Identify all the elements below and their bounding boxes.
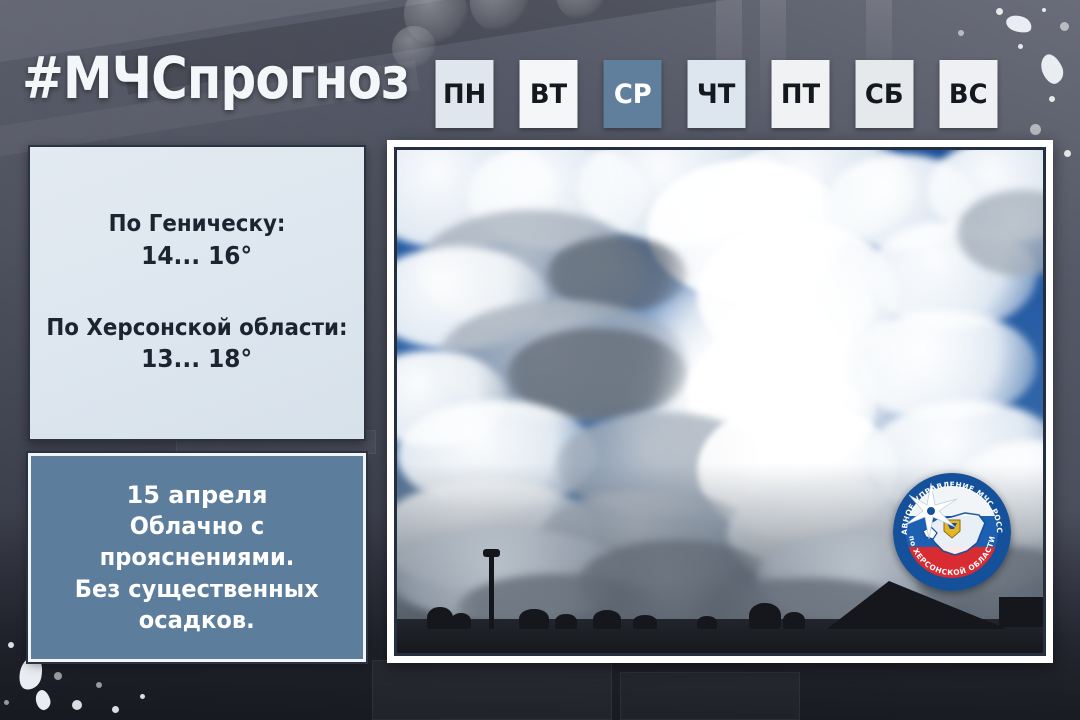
page-title: #МЧСпрогноз bbox=[22, 44, 409, 112]
day-tab-wed-active[interactable]: СР bbox=[604, 60, 662, 128]
building-silhouette bbox=[999, 597, 1043, 627]
water-droplet bbox=[1049, 96, 1055, 102]
tree-silhouette bbox=[783, 612, 805, 629]
water-droplet bbox=[140, 694, 145, 699]
water-droplet bbox=[996, 8, 1003, 15]
tree-silhouette bbox=[519, 609, 549, 629]
water-droplet bbox=[4, 700, 9, 705]
forecast-date: 15 апреля bbox=[127, 479, 268, 511]
forecast-line-1: Облачно с прояснениями. bbox=[48, 511, 345, 573]
day-tab-label: ВС bbox=[949, 79, 988, 110]
day-tab-label: СБ bbox=[865, 79, 904, 110]
water-droplet bbox=[1064, 150, 1071, 157]
tree-silhouette bbox=[697, 616, 717, 629]
day-tab-sat[interactable]: СБ bbox=[856, 60, 914, 128]
water-droplet bbox=[72, 700, 82, 710]
forecast-line-2: Без существенных bbox=[75, 574, 319, 605]
water-droplet bbox=[1042, 8, 1046, 12]
day-tab-mon[interactable]: ПН bbox=[436, 60, 494, 128]
background-shape bbox=[372, 660, 612, 720]
day-tab-label: ПН bbox=[443, 79, 486, 110]
day-tab-label: ПТ bbox=[781, 79, 820, 110]
day-tab-sun[interactable]: ВС bbox=[940, 60, 998, 128]
water-droplet bbox=[96, 682, 102, 688]
region-label: По Херсонской области: bbox=[46, 314, 347, 343]
water-droplet bbox=[54, 672, 62, 680]
water-droplet bbox=[112, 706, 119, 713]
tree-silhouette bbox=[633, 615, 657, 629]
day-tab-label: ЧТ bbox=[697, 79, 736, 110]
day-tab-fri[interactable]: ПТ bbox=[772, 60, 830, 128]
water-droplet bbox=[1060, 22, 1069, 31]
tree-silhouette bbox=[555, 614, 577, 629]
water-droplet bbox=[8, 642, 14, 648]
weather-photo: ГЛАВНОЕ УПРАВЛЕНИЕ МЧС РОССИИ по ХЕРСОНС… bbox=[394, 147, 1046, 656]
water-droplet bbox=[958, 30, 964, 36]
water-droplet bbox=[1018, 44, 1023, 49]
temperature-panel: По Геническу: 14... 16° По Херсонской об… bbox=[28, 145, 366, 441]
tree-silhouette bbox=[427, 607, 453, 629]
tree-silhouette bbox=[749, 603, 781, 629]
lamppost-head bbox=[483, 549, 500, 557]
day-tab-label: ВТ bbox=[530, 79, 567, 110]
tree-silhouette bbox=[451, 613, 471, 629]
water-droplet bbox=[1030, 124, 1041, 135]
tree-silhouette bbox=[593, 610, 621, 629]
lamppost bbox=[489, 551, 494, 629]
city-temperature: 14... 16° bbox=[142, 240, 253, 273]
forecast-line-3: осадков. bbox=[139, 605, 255, 636]
day-tab-tue[interactable]: ВТ bbox=[520, 60, 578, 128]
rooftop-silhouette bbox=[827, 581, 1007, 629]
background-shape bbox=[620, 672, 800, 720]
day-tab-label: СР bbox=[614, 79, 652, 110]
day-tab-thu[interactable]: ЧТ bbox=[688, 60, 746, 128]
forecast-panel: 15 апреля Облачно с прояснениями. Без су… bbox=[28, 453, 366, 662]
region-temperature: 13... 18° bbox=[142, 343, 253, 376]
city-label: По Геническу: bbox=[109, 210, 286, 239]
day-tabs: ПН ВТ СР ЧТ ПТ СБ ВС bbox=[433, 60, 1000, 128]
emercom-emblem: ГЛАВНОЕ УПРАВЛЕНИЕ МЧС РОССИИ по ХЕРСОНС… bbox=[893, 473, 1011, 591]
weather-photo-frame: ГЛАВНОЕ УПРАВЛЕНИЕ МЧС РОССИИ по ХЕРСОНС… bbox=[387, 140, 1053, 663]
